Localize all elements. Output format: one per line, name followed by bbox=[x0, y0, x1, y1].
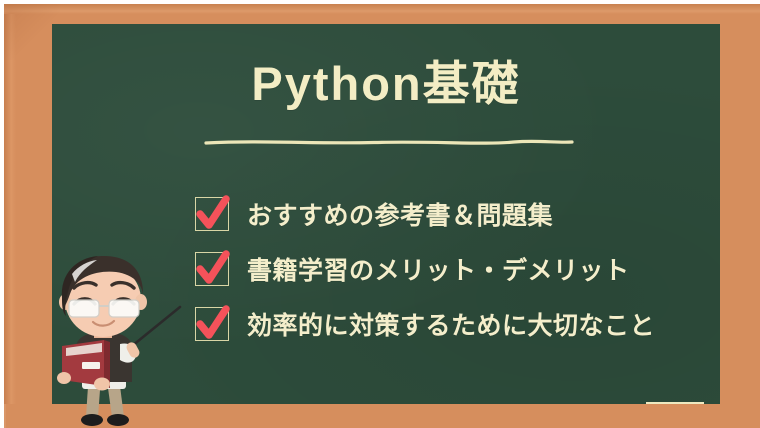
checklist: おすすめの参考書＆問題集 書籍学習のメリット・デメリット bbox=[195, 186, 715, 351]
frame-bevel-right bbox=[744, 4, 760, 428]
list-item-label: おすすめの参考書＆問題集 bbox=[247, 196, 553, 232]
checkbox-2[interactable] bbox=[195, 252, 229, 286]
frame-bevel-left bbox=[4, 4, 16, 428]
list-item[interactable]: 書籍学習のメリット・デメリット bbox=[195, 241, 715, 296]
title-underline-icon bbox=[204, 137, 574, 149]
check-icon bbox=[192, 302, 234, 346]
list-item[interactable]: おすすめの参考書＆問題集 bbox=[195, 186, 715, 241]
slide-root: Python基礎 おすすめの参考書＆問題集 bbox=[0, 0, 760, 428]
list-item-label: 効率的に対策するために大切なこと bbox=[247, 306, 655, 342]
list-item[interactable]: 効率的に対策するために大切なこと bbox=[195, 296, 715, 351]
list-item-label: 書籍学習のメリット・デメリット bbox=[247, 251, 630, 287]
checkbox-3[interactable] bbox=[195, 307, 229, 341]
check-icon bbox=[192, 192, 234, 236]
checkbox-1[interactable] bbox=[195, 197, 229, 231]
frame-bevel-top bbox=[4, 4, 760, 14]
check-icon bbox=[192, 247, 234, 291]
teacher-character-icon bbox=[40, 252, 185, 428]
page-title: Python基礎 bbox=[52, 60, 720, 107]
